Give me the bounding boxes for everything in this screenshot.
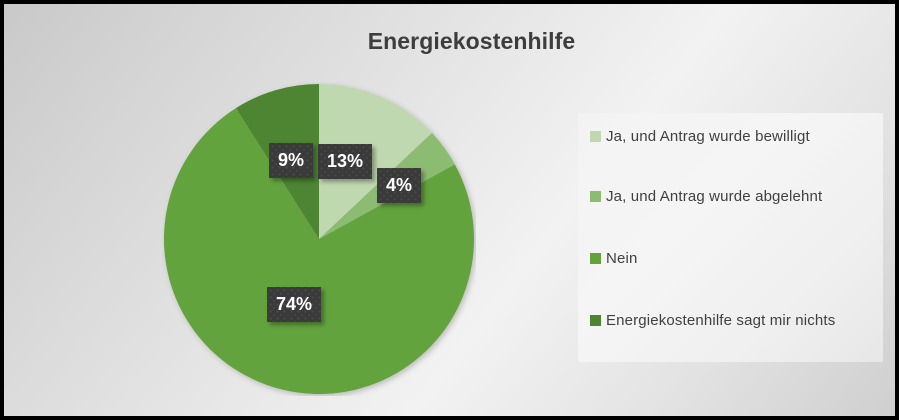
legend-item-nein[interactable]: Nein	[590, 248, 882, 269]
pie-chart	[162, 82, 476, 396]
data-label-sagt-mir-nichts: 9%	[269, 143, 313, 178]
legend-item-label: Nein	[606, 248, 637, 269]
data-label-nein: 74%	[267, 287, 321, 322]
legend-item-ja-abgelehnt[interactable]: Ja, und Antrag wurde abgelehnt	[590, 186, 882, 207]
data-label-ja-abgelehnt: 4%	[377, 168, 421, 203]
legend-item-label: Energiekostenhilfe sagt mir nichts	[606, 310, 835, 331]
legend-item-ja-bewilligt[interactable]: Ja, und Antrag wurde bewilligt	[590, 126, 882, 147]
legend-item-label: Ja, und Antrag wurde bewilligt	[606, 126, 810, 147]
legend-item-label: Ja, und Antrag wurde abgelehnt	[606, 186, 822, 207]
data-label-ja-bewilligt: 13%	[318, 144, 372, 179]
legend-swatch-icon	[590, 253, 601, 264]
legend-item-sagt-mir-nichts[interactable]: Energiekostenhilfe sagt mir nichts	[590, 310, 882, 331]
pie-svg	[162, 82, 476, 396]
legend-swatch-icon	[590, 191, 601, 202]
legend-swatch-icon	[590, 131, 601, 142]
legend: Ja, und Antrag wurde bewilligt Ja, und A…	[590, 116, 882, 362]
chart-frame: Energiekostenhilfe 13% 4% 74% 9% Ja, und…	[0, 0, 899, 420]
legend-swatch-icon	[590, 315, 601, 326]
chart-title: Energiekostenhilfe	[4, 28, 899, 55]
